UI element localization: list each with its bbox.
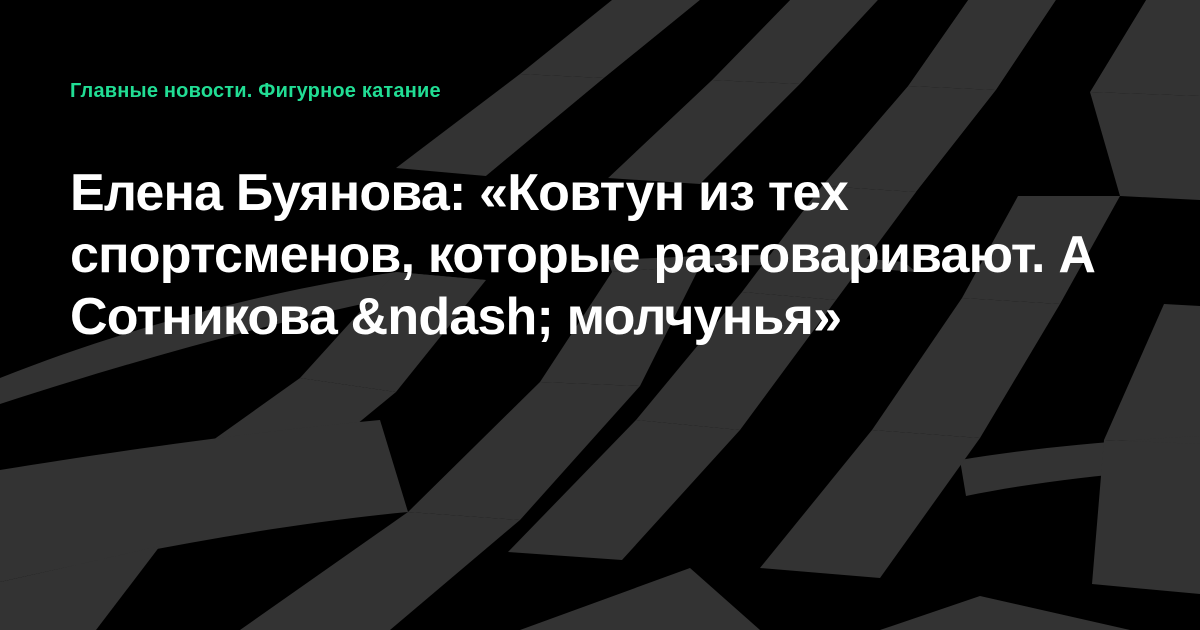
rubric-kicker: Главные новости. Фигурное катание (70, 78, 441, 104)
headline-title: Елена Буянова: «Ковтун из тех спортсмено… (70, 162, 1130, 348)
text-content-layer: Главные новости. Фигурное катание Елена … (0, 0, 1200, 630)
social-share-card: Главные новости. Фигурное катание Елена … (0, 0, 1200, 630)
